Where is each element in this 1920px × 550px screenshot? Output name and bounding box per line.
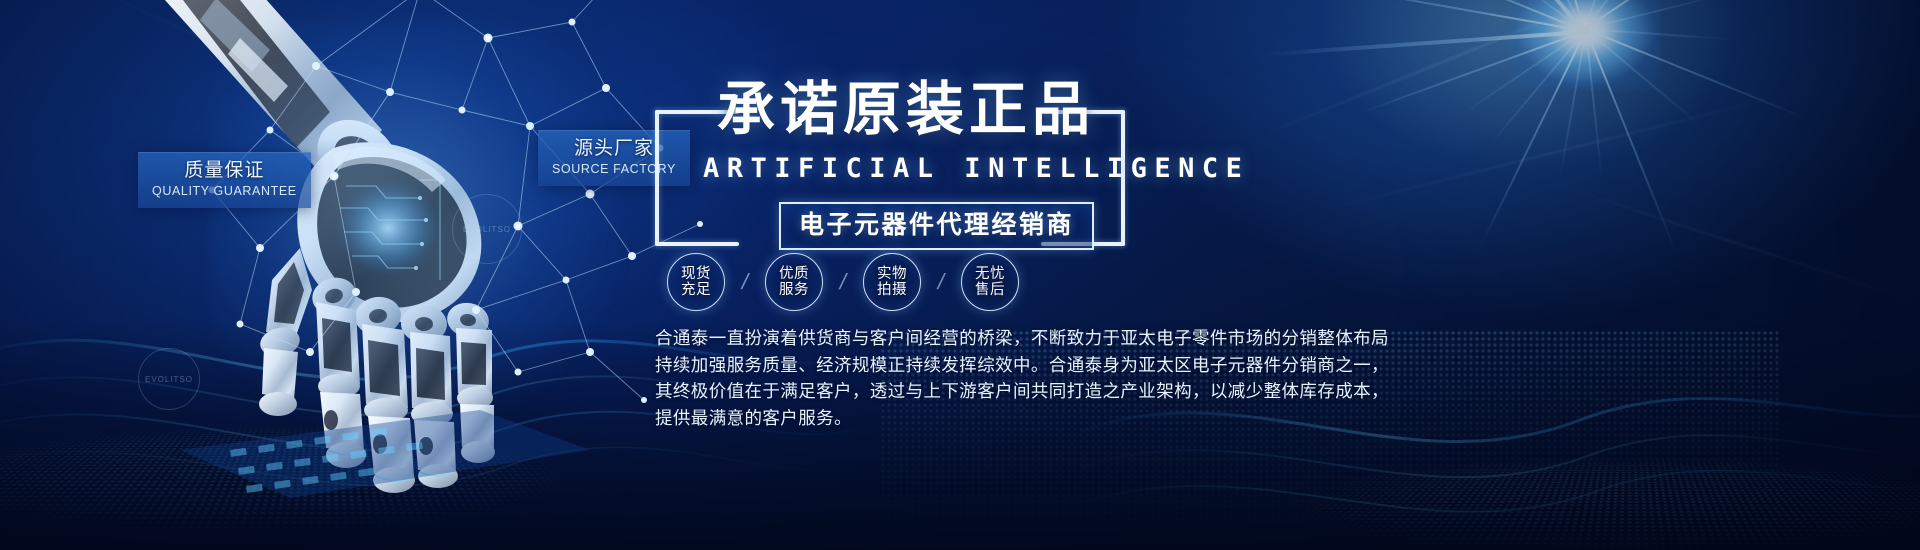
tag-source-en: SOURCE FACTORY <box>552 161 676 177</box>
badge-separator-3: / <box>919 271 964 293</box>
description-line-1: 合通泰一直扮演着供货商与客户间经营的桥梁，不断致力于亚太电子零件市场的分销整体布… <box>655 326 1795 353</box>
badge-separator-1: / <box>723 271 768 293</box>
headline-boxed-text: 电子元器件代理经销商 <box>799 211 1074 239</box>
description-paragraph: 合通泰一直扮演着供货商与客户间经营的桥梁，不断致力于亚太电子零件市场的分销整体布… <box>655 326 1795 432</box>
badge-after-sales-line2: 售后 <box>975 282 1005 298</box>
watermark-circle-2: EVOLITSO <box>138 348 200 410</box>
badge-service: 优质 服务 <box>765 253 823 311</box>
badge-real-photo: 实物 拍摄 <box>863 253 921 311</box>
feature-badges: 现货 充足 / 优质 服务 / 实物 拍摄 / 无忧 售后 <box>667 253 1019 311</box>
headline-boxed-subtitle: 电子元器件代理经销商 <box>779 202 1094 250</box>
tag-quality-guarantee: 质量保证 QUALITY GUARANTEE <box>138 152 311 208</box>
description-line-4: 提供最满意的客户服务。 <box>655 406 1795 433</box>
description-line-3: 其终极价值在于满足客户，透过与上下游客户间共同打造之产业架构，以减少整体库存成本… <box>655 379 1795 406</box>
badge-service-line2: 服务 <box>779 282 809 298</box>
badge-real-photo-line1: 实物 <box>877 266 907 282</box>
ai-electronics-banner: EVOLITSO EVOLITSO 质量保证 QUALITY GUARANTEE… <box>0 0 1920 550</box>
badge-separator-2: / <box>821 271 866 293</box>
badge-real-photo-line2: 拍摄 <box>877 282 907 298</box>
tag-source-factory: 源头厂家 SOURCE FACTORY <box>538 130 690 186</box>
network-nodes <box>120 0 740 500</box>
badge-stock-line2: 充足 <box>681 282 711 298</box>
robot-hand-illustration: EVOLITSO EVOLITSO <box>120 0 740 500</box>
description-line-2: 持续加强服务质量、经济规模正持续发挥综效中。合通泰身为亚太区电子元器件分销商之一… <box>655 353 1795 380</box>
headline-english: ARTIFICIAL INTELLIGENCE <box>703 154 1249 184</box>
headline-main: 承诺原装正品 <box>717 78 1095 140</box>
tag-quality-cn: 质量保证 <box>152 160 297 181</box>
tag-source-cn: 源头厂家 <box>552 138 676 159</box>
watermark-text-1: EVOLITSO <box>463 225 511 234</box>
tag-quality-en: QUALITY GUARANTEE <box>152 183 297 199</box>
watermark-text-2: EVOLITSO <box>145 375 193 384</box>
badge-service-line1: 优质 <box>779 266 809 282</box>
badge-after-sales-line1: 无忧 <box>975 266 1005 282</box>
badge-after-sales: 无忧 售后 <box>961 253 1019 311</box>
badge-stock-line1: 现货 <box>681 266 711 282</box>
badge-stock: 现货 充足 <box>667 253 725 311</box>
watermark-circle-1: EVOLITSO <box>452 194 522 264</box>
